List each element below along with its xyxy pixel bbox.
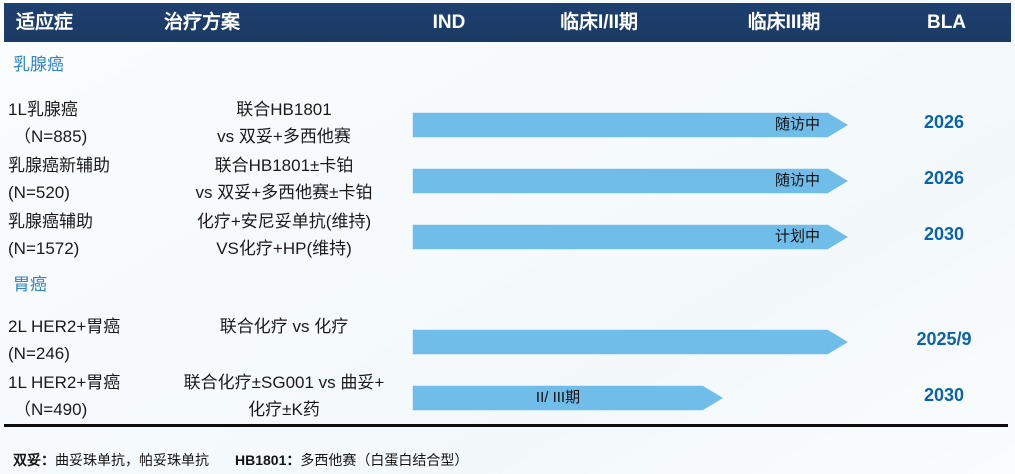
cell-bla: 2030 [880,224,1008,245]
section-label-gastric-cancer: 胃癌 [13,270,47,295]
column-header-regimen: 治疗方案 [164,3,240,42]
regimen-line: vs 双妥+多西他赛±卡铂 [160,179,408,206]
cell-bla: 2025/9 [880,329,1008,350]
indication-line: （N=490) [8,396,160,423]
cell-bla: 2030 [880,385,1008,406]
phase-bar-wrap [413,330,828,354]
phase-bar-label: II/ III期 [536,386,580,410]
regimen-line: 化疗+安尼妥单抗(维持) [160,208,408,235]
cell-indication: 乳腺癌辅助 (N=1572) [8,208,160,262]
indication-line: (N=246) [8,340,160,367]
cell-regimen: 化疗+安尼妥单抗(维持) VS化疗+HP(维持) [160,208,408,262]
phase-bar-label: 随访中 [775,113,820,137]
regimen-line: 联合化疗±SG001 vs 曲妥+ [160,369,408,396]
indication-line: (N=520) [8,179,160,206]
cell-regimen: 联合化疗±SG001 vs 曲妥+ 化疗±K药 [160,369,408,423]
column-header-phase-3: 临床III期 [694,3,874,42]
phase-bar-arrow: 计划中 [413,225,828,249]
footer-divider [4,424,1008,427]
cell-regimen: 联合HB1801±卡铂 vs 双妥+多西他赛±卡铂 [160,152,408,206]
table-row: 1L HER2+胃癌 （N=490) 联合化疗±SG001 vs 曲妥+ 化疗±… [0,369,1015,427]
regimen-line: VS化疗+HP(维持) [160,235,408,262]
cell-indication: 1L HER2+胃癌 （N=490) [8,369,160,423]
phase-bar-wrap: 计划中 [413,225,828,249]
phase-bar-wrap: 随访中 [413,113,828,137]
indication-line: 2L HER2+胃癌 [8,313,160,340]
cell-indication: 1L乳腺癌 （N=885) [8,96,160,150]
phase-bar-arrow: 随访中 [413,169,828,193]
phase-bar-arrow: II/ III期 [413,386,703,410]
footnote-term-2-label: HB1801： [235,452,300,468]
phase-bar-arrow: 随访中 [413,113,828,137]
table-row: 1L乳腺癌 （N=885) 联合HB1801 vs 双妥+多西他赛 随访中 20… [0,96,1015,154]
pipeline-chart: 适应症 治疗方案 IND 临床I/II期 临床III期 BLA 乳腺癌 胃癌 1… [0,0,1015,474]
phase-bar-label: 随访中 [775,169,820,193]
indication-line: （N=885) [8,123,160,150]
cell-bla: 2026 [880,168,1008,189]
phase-bar-label: 计划中 [775,225,820,249]
cell-bla: 2026 [880,112,1008,133]
indication-line: 乳腺癌新辅助 [8,152,160,179]
footnote-term-1-value: 曲妥珠单抗，帕妥珠单抗 [55,452,209,468]
footnote-term-2-value: 多西他赛（白蛋白结合型） [300,452,468,468]
column-header-phase-1-2: 临床I/II期 [504,3,694,42]
table-row: 2L HER2+胃癌 (N=246) 联合化疗 vs 化疗 2025/9 [0,313,1015,371]
indication-line: 1L乳腺癌 [8,96,160,123]
cell-regimen: 联合HB1801 vs 双妥+多西他赛 [160,96,408,150]
footnote-term-1-label: 双妥： [13,452,55,468]
indication-line: (N=1572) [8,235,160,262]
table-row: 乳腺癌辅助 (N=1572) 化疗+安尼妥单抗(维持) VS化疗+HP(维持) … [0,208,1015,266]
cell-regimen: 联合化疗 vs 化疗 [160,313,408,340]
regimen-line: vs 双妥+多西他赛 [160,123,408,150]
regimen-line: 化疗±K药 [160,396,408,423]
phase-bar-wrap: II/ III期 [413,386,703,410]
cell-indication: 2L HER2+胃癌 (N=246) [8,313,160,367]
cell-indication: 乳腺癌新辅助 (N=520) [8,152,160,206]
column-header-bla: BLA [884,3,1009,42]
regimen-line: 联合HB1801 [160,96,408,123]
regimen-line: 联合HB1801±卡铂 [160,152,408,179]
footnote: 双妥：曲妥珠单抗，帕妥珠单抗HB1801：多西他赛（白蛋白结合型） [13,450,468,470]
indication-line: 乳腺癌辅助 [8,208,160,235]
column-header-ind: IND [384,3,514,42]
regimen-line: 联合化疗 vs 化疗 [160,313,408,340]
phase-bar-wrap: 随访中 [413,169,828,193]
section-label-breast-cancer: 乳腺癌 [13,50,64,75]
phase-bar-arrow [413,330,828,354]
column-header-indication: 适应症 [16,3,73,42]
table-header: 适应症 治疗方案 IND 临床I/II期 临床III期 BLA [4,3,1011,42]
table-row: 乳腺癌新辅助 (N=520) 联合HB1801±卡铂 vs 双妥+多西他赛±卡铂… [0,152,1015,210]
indication-line: 1L HER2+胃癌 [8,369,160,396]
